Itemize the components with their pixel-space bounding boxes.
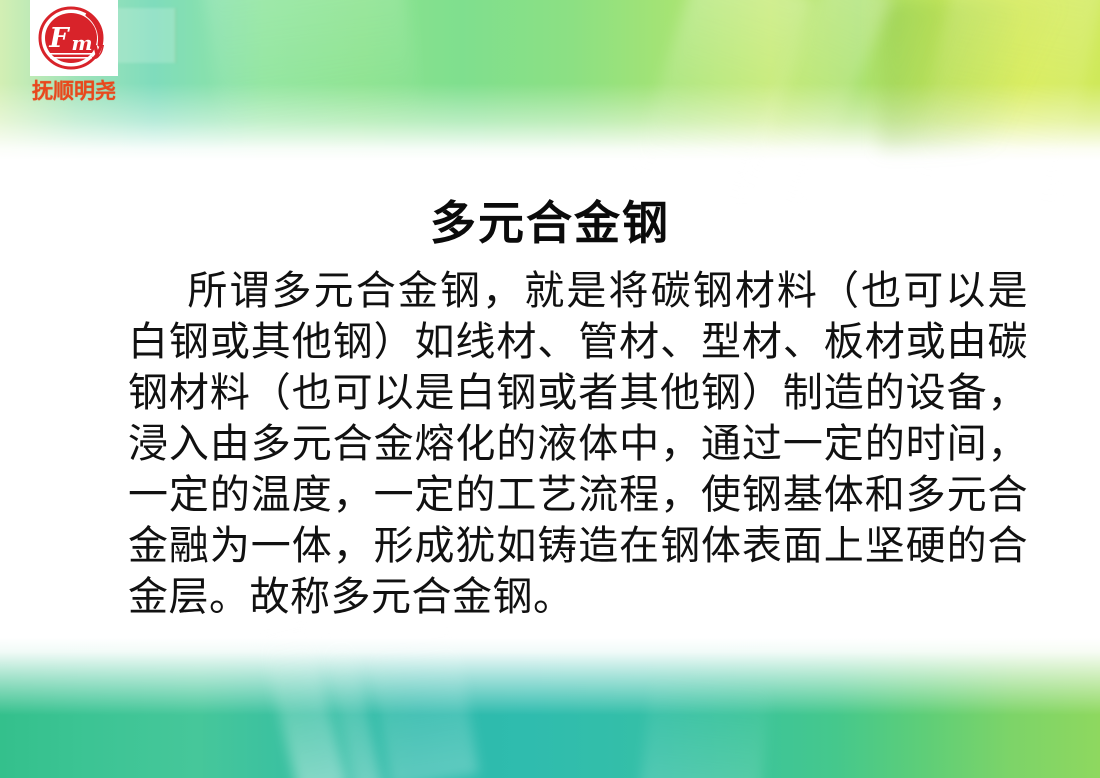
top-band-streak xyxy=(632,0,814,206)
svg-text:F: F xyxy=(48,23,70,54)
bottom-band-streak xyxy=(321,630,385,778)
top-gradient-band xyxy=(0,0,1100,160)
top-band-streak xyxy=(736,0,893,209)
fmy-logo-icon: F m y xyxy=(37,5,109,71)
slide-title: 多元合金钢 xyxy=(0,197,1100,250)
logo-white-plate: F m y xyxy=(30,0,118,76)
top-band-sweep xyxy=(880,0,1080,150)
bottom-gradient-band xyxy=(0,638,1100,778)
slide-body-paragraph: 所谓多元合金钢，就是将碳钢材料（也可以是白钢或其他钢）如线材、管材、型材、板材或… xyxy=(128,266,1028,623)
bottom-band-streak xyxy=(259,621,349,778)
brand-logo-block: F m y 抚顺明尧 xyxy=(30,0,118,103)
bottom-band-streak xyxy=(367,626,479,778)
top-band-streak xyxy=(200,0,423,148)
presentation-slide: F m y 抚顺明尧 多元合金钢 所谓多元合金钢，就是将碳钢材料（也可以是白钢或… xyxy=(0,0,1100,778)
company-name-label: 抚顺明尧 xyxy=(24,80,124,103)
svg-text:m: m xyxy=(71,31,92,55)
bottom-band-streak xyxy=(640,669,772,778)
top-band-streak xyxy=(912,0,1100,206)
svg-text:y: y xyxy=(90,36,104,60)
